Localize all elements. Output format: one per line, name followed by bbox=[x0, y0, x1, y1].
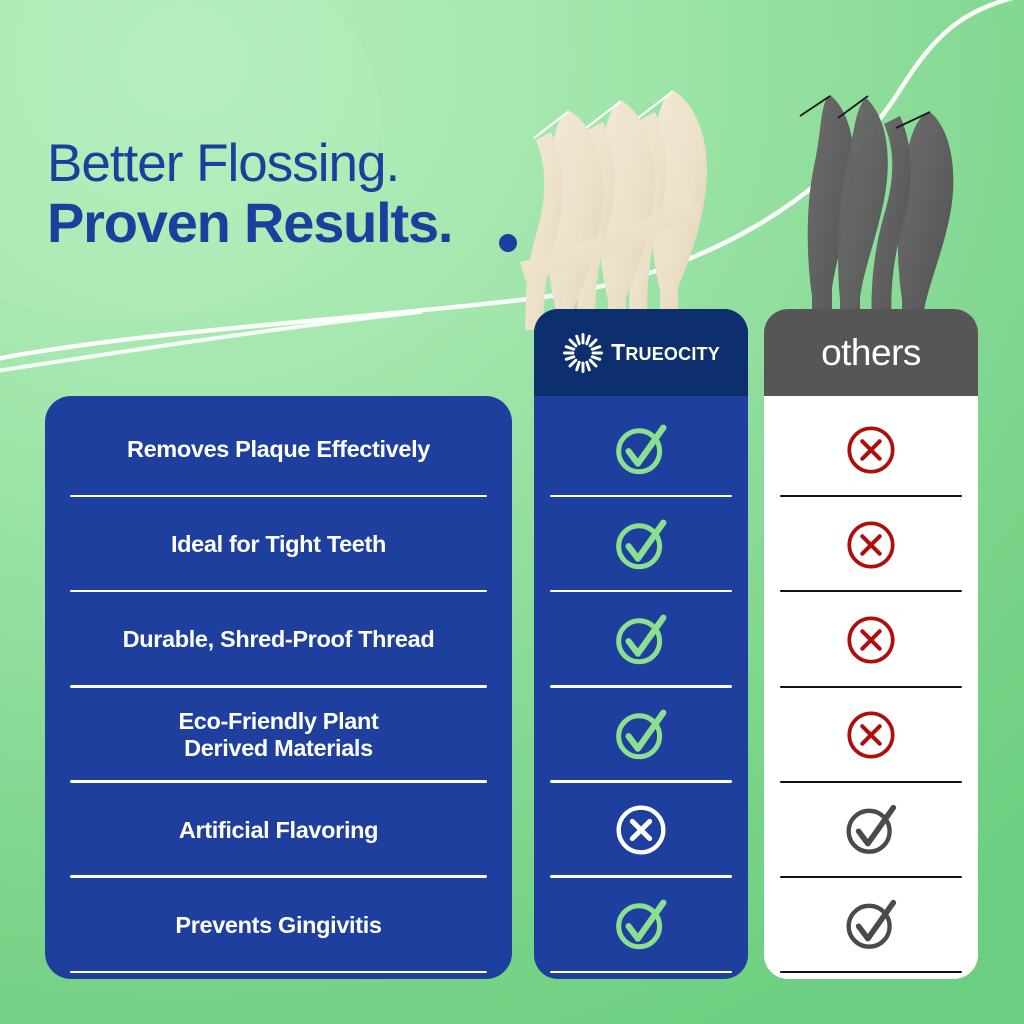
others-mark-cell bbox=[764, 402, 978, 497]
comparison-table: Better Flossing. Proven Results. Removes… bbox=[0, 0, 1024, 1024]
brand-column-header: TRUEOCITY bbox=[534, 309, 748, 396]
brand-mark-cell bbox=[534, 402, 748, 497]
others-column: others bbox=[764, 309, 978, 979]
feature-label: Durable, Shred-Proof Thread bbox=[123, 626, 435, 653]
feature-label: Prevents Gingivitis bbox=[175, 912, 381, 939]
others-mark-cell bbox=[764, 783, 978, 878]
check-circle-icon bbox=[610, 609, 672, 671]
others-mark-cell bbox=[764, 878, 978, 973]
check-circle-icon bbox=[610, 704, 672, 766]
check-circle-icon bbox=[610, 514, 672, 576]
feature-label: Ideal for Tight Teeth bbox=[171, 531, 386, 558]
brand-mark-cell bbox=[534, 688, 748, 783]
others-mark-cell bbox=[764, 688, 978, 783]
starburst-icon bbox=[562, 332, 604, 374]
features-panel: Removes Plaque Effectively Ideal for Tig… bbox=[45, 396, 512, 979]
headline-line-1: Better Flossing. bbox=[47, 136, 452, 191]
others-label: others bbox=[821, 332, 921, 374]
cross-circle-icon bbox=[840, 704, 902, 766]
feature-row: Removes Plaque Effectively bbox=[45, 402, 512, 497]
feature-label: Removes Plaque Effectively bbox=[127, 436, 430, 463]
cross-circle-icon bbox=[610, 799, 672, 861]
feature-row: Prevents Gingivitis bbox=[45, 878, 512, 973]
cross-circle-icon bbox=[840, 514, 902, 576]
check-circle-icon bbox=[840, 799, 902, 861]
others-column-body bbox=[764, 396, 978, 979]
brand-mark-cell bbox=[534, 783, 748, 878]
brand-column-body bbox=[534, 396, 748, 979]
brand-column: TRUEOCITY bbox=[534, 309, 748, 979]
check-circle-icon bbox=[610, 419, 672, 481]
brand-mark-cell bbox=[534, 878, 748, 973]
others-mark-cell bbox=[764, 497, 978, 592]
feature-label: Artificial Flavoring bbox=[179, 817, 378, 844]
check-circle-icon bbox=[610, 894, 672, 956]
others-mark-cell bbox=[764, 592, 978, 687]
brand-mark-cell bbox=[534, 592, 748, 687]
brand-mark-cell bbox=[534, 497, 748, 592]
page-title: Better Flossing. Proven Results. bbox=[47, 136, 452, 252]
cross-circle-icon bbox=[840, 419, 902, 481]
others-column-header: others bbox=[764, 309, 978, 396]
brand-logo-text: TRUEOCITY bbox=[611, 339, 720, 366]
feature-label: Eco-Friendly Plant Derived Materials bbox=[178, 708, 378, 763]
headline-line-2: Proven Results. bbox=[47, 194, 452, 252]
feature-row: Eco-Friendly Plant Derived Materials bbox=[45, 688, 512, 783]
feature-row: Ideal for Tight Teeth bbox=[45, 497, 512, 592]
feature-row: Artificial Flavoring bbox=[45, 783, 512, 878]
check-circle-icon bbox=[840, 894, 902, 956]
cross-circle-icon bbox=[840, 609, 902, 671]
feature-row: Durable, Shred-Proof Thread bbox=[45, 592, 512, 687]
